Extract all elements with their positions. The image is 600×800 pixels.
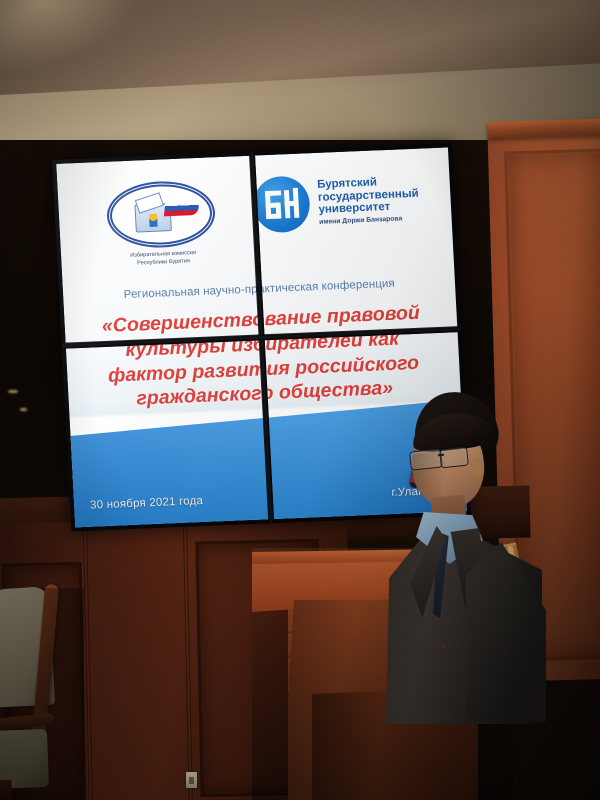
slide-logo-row: Избирательная комиссия Республики Буряти… <box>255 169 454 270</box>
conference-hall-photo: Избирательная комиссия Республики Буряти… <box>0 0 600 800</box>
eyeglasses-right-lens <box>439 447 469 469</box>
video-wall-panel: Избирательная комиссия Республики Буряти… <box>56 156 259 343</box>
presentation-slide: Избирательная комиссия Республики Буряти… <box>255 147 458 334</box>
slide-title: «Совершенствование правовой культуры изб… <box>82 300 259 343</box>
presentation-slide: Избирательная комиссия Республики Буряти… <box>56 156 259 343</box>
conference-line: Региональная научно-практическая конфере… <box>255 275 456 303</box>
presenter-at-podium <box>392 392 542 722</box>
university-block: Бурятский государственный университет им… <box>255 171 421 234</box>
eyeglasses-left-lens <box>409 448 443 470</box>
chair-leg <box>0 780 13 800</box>
slide-title: «Совершенствование правовой культуры изб… <box>82 340 268 414</box>
bsu-monogram-logo <box>255 175 311 233</box>
video-wall-panel: Избирательная комиссия Республики Буряти… <box>255 147 458 334</box>
slide-title: «Совершенствование правовой культуры изб… <box>255 300 444 335</box>
upholstered-armchair <box>0 588 84 800</box>
wall-reflection <box>8 390 18 393</box>
election-commission-emblem <box>105 179 216 249</box>
jacket-pocket-detail <box>442 644 445 648</box>
ceiling-light-glow <box>0 0 155 90</box>
slide-logo-row: Избирательная комиссия Республики Буряти… <box>57 169 259 270</box>
wall-sticker-label <box>186 772 197 788</box>
election-commission-caption: Избирательная комиссия Республики Буряти… <box>93 248 234 269</box>
slide-date: 30 ноября 2021 года <box>90 494 204 511</box>
election-commission-block: Избирательная комиссия Республики Буряти… <box>89 179 233 270</box>
university-name: Бурятский государственный университет им… <box>317 175 420 227</box>
russian-flag-ribbon-icon <box>164 200 200 217</box>
panel-seam <box>183 520 193 800</box>
wall-reflection <box>20 408 27 411</box>
presentation-slide: Избирательная комиссия Республики Буряти… <box>66 340 269 527</box>
slide-footer-band: 30 ноября 2021 года г.Улан-Удэ <box>69 400 268 528</box>
conference-line: Региональная научно-практическая конфере… <box>63 275 259 303</box>
university-subtitle: имени Доржи Банзарова <box>319 215 420 227</box>
soyombo-icon <box>149 214 158 227</box>
video-wall-panel: Избирательная комиссия Республики Буряти… <box>66 340 269 527</box>
